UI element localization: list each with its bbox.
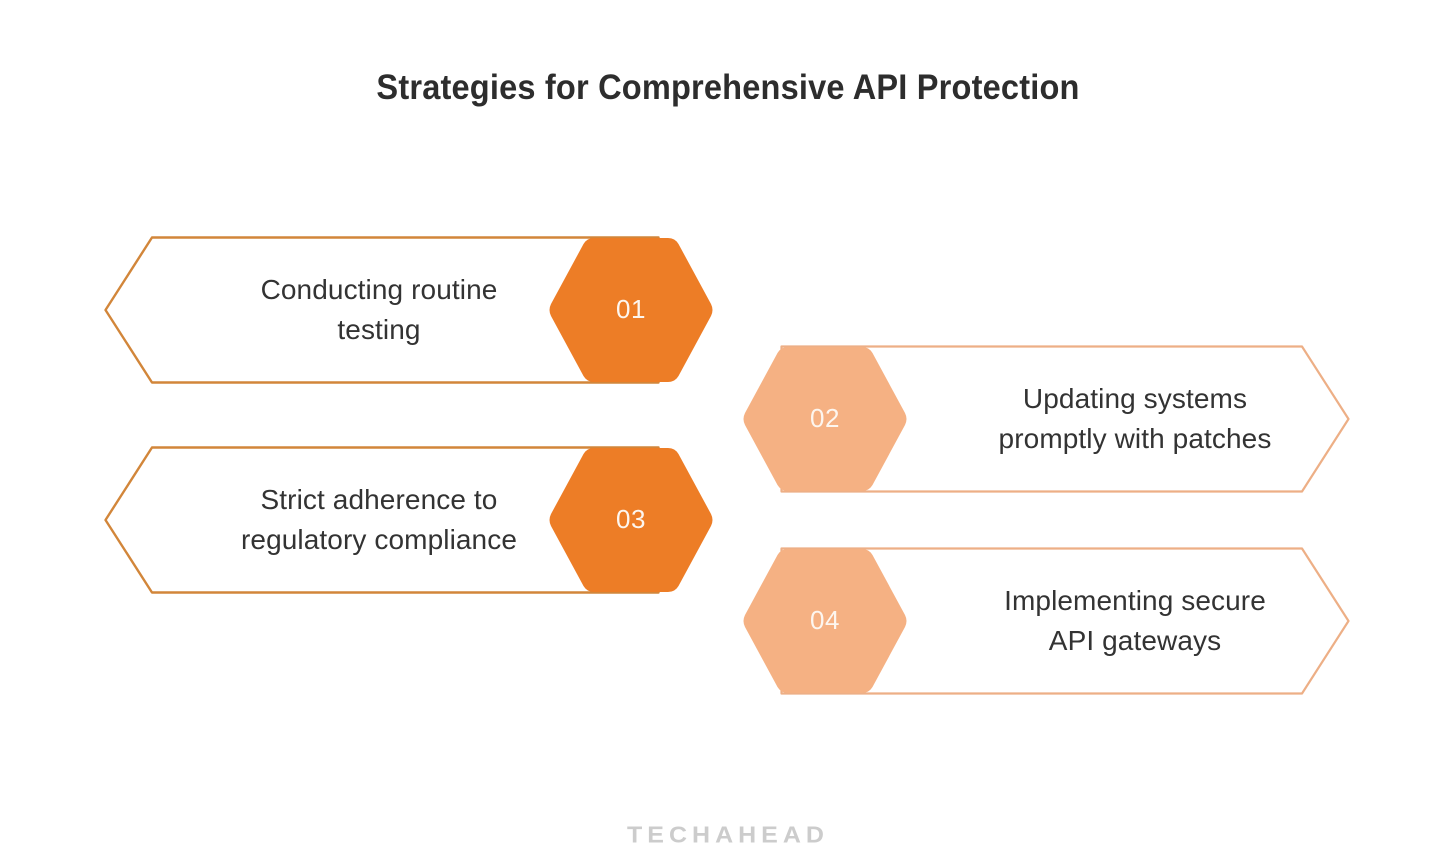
item-label-line1-01: Conducting routine: [261, 274, 498, 305]
item-label-line2-04: API gateways: [1049, 625, 1221, 656]
strategy-item-03[interactable]: Strict adherence to regulatory complianc…: [104, 446, 714, 594]
item-label-line2-02: promptly with patches: [999, 423, 1272, 454]
hexagon-badge-01[interactable]: 01: [548, 236, 714, 384]
page-title: Strategies for Comprehensive API Protect…: [51, 62, 1405, 114]
item-label-line2-01: testing: [337, 314, 420, 345]
item-label-line1-04: Implementing secure: [1004, 585, 1266, 616]
hexagon-number-03: 03: [548, 446, 714, 594]
item-label-line1-02: Updating systems: [1023, 383, 1247, 414]
item-label-line2-03: regulatory compliance: [241, 524, 517, 555]
hexagon-badge-03[interactable]: 03: [548, 446, 714, 594]
hexagon-badge-04[interactable]: 04: [742, 547, 908, 695]
hexagon-number-02: 02: [742, 345, 908, 493]
hexagon-badge-02[interactable]: 02: [742, 345, 908, 493]
infographic-canvas: Strategies for Comprehensive API Protect…: [0, 0, 1456, 866]
item-label-03: Strict adherence to regulatory complianc…: [164, 446, 594, 594]
strategy-item-01[interactable]: Conducting routine testing 01: [104, 236, 714, 384]
strategy-item-02[interactable]: 02 Updating systems promptly with patche…: [742, 345, 1352, 493]
hexagon-number-04: 04: [742, 547, 908, 695]
item-label-02: Updating systems promptly with patches: [920, 345, 1350, 493]
item-label-04: Implementing secure API gateways: [920, 547, 1350, 695]
hexagon-number-01: 01: [548, 236, 714, 384]
item-label-01: Conducting routine testing: [164, 236, 594, 384]
item-label-line1-03: Strict adherence to: [261, 484, 498, 515]
strategy-item-04[interactable]: 04 Implementing secure API gateways: [742, 547, 1352, 695]
brand-logo-techahead: TECHAHEAD: [0, 819, 1456, 850]
